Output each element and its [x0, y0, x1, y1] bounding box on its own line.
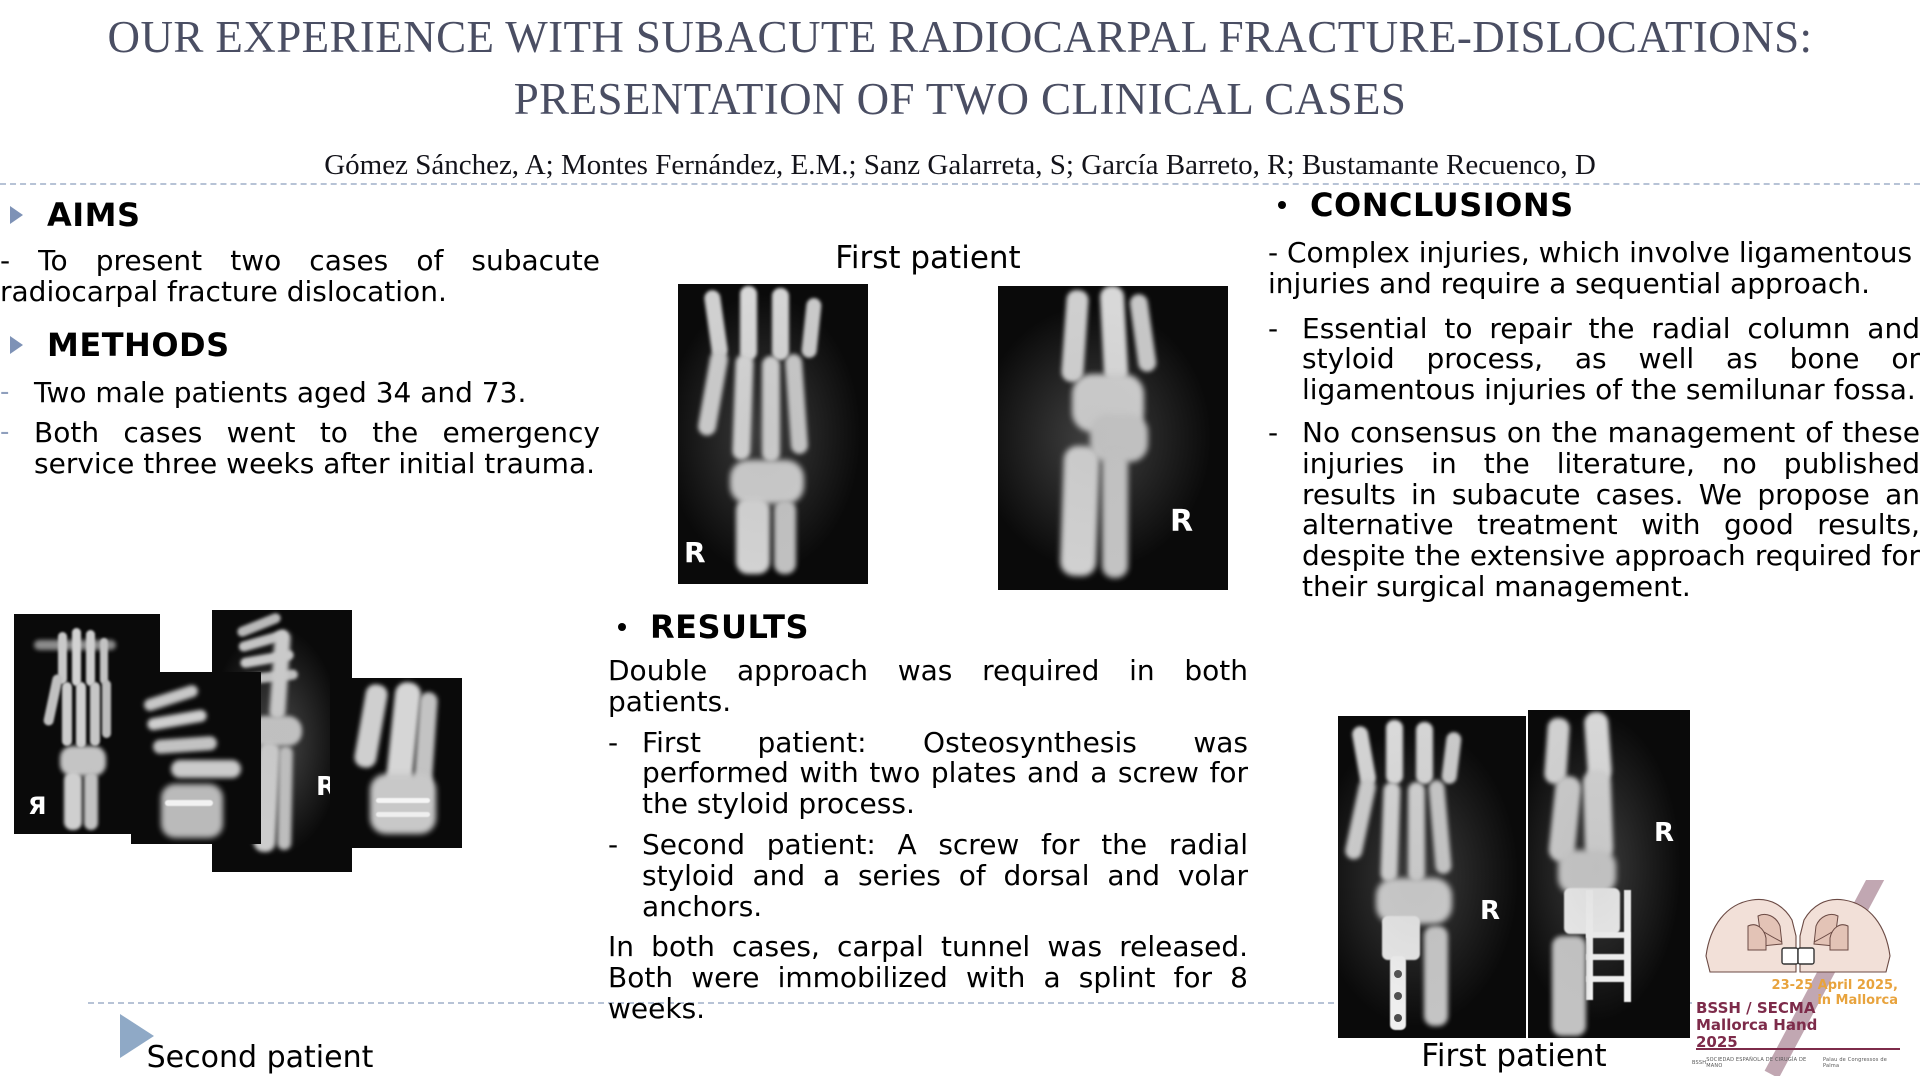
header-divider: [0, 183, 1920, 185]
sponsor-palau: Palau de Congressos de Palma: [1823, 1057, 1904, 1069]
conclusions-heading-row: CONCLUSIONS: [1268, 186, 1920, 224]
results-bullet: - Second patient: A screw for the radial…: [608, 830, 1248, 922]
bullet-mark: -: [608, 830, 642, 922]
results-heading: RESULTS: [650, 608, 809, 646]
conclusions-bullet: - Essential to repair the radial column …: [1268, 314, 1920, 406]
xray-first-patient-preop-pa: R: [678, 284, 868, 584]
bullet-mark: -: [0, 378, 34, 409]
author-list: Gómez Sánchez, A; Montes Fernández, E.M.…: [0, 148, 1920, 182]
hands-illustration-icon: [1700, 886, 1896, 982]
disc-bullet-icon: [618, 623, 626, 631]
conclusions-bullet: - No consensus on the management of thes…: [1268, 418, 1920, 603]
aims-heading: AIMS: [47, 196, 141, 234]
logo-divider: [1696, 1048, 1900, 1050]
disc-bullet-icon: [1278, 201, 1286, 209]
page-title: OUR EXPERIENCE WITH SUBACUTE RADIOCARPAL…: [0, 6, 1920, 130]
xray-laterality-label: R: [1654, 818, 1674, 848]
bullet-text: No consensus on the management of these …: [1302, 418, 1920, 603]
sponsor-bssh: BSSH: [1692, 1060, 1706, 1066]
logo-name-line1: BSSH / SECMA: [1696, 1000, 1826, 1017]
methods-heading: METHODS: [47, 326, 230, 364]
conference-logo: 23-25 April 2025, in Mallorca BSSH / SEC…: [1692, 880, 1904, 1076]
results-intro: Double approach was required in both pat…: [608, 656, 1248, 718]
conclusions-heading: CONCLUSIONS: [1310, 186, 1574, 224]
bullet-text: Second patient: A screw for the radial s…: [642, 830, 1248, 922]
logo-event-name: BSSH / SECMA Mallorca Hand 2025: [1696, 1000, 1826, 1051]
poster-slide: OUR EXPERIENCE WITH SUBACUTE RADIOCARPAL…: [0, 0, 1920, 1080]
xray-laterality-label: Я: [28, 792, 46, 820]
xray-first-patient-preop-lateral: R: [998, 286, 1228, 590]
xray-first-patient-postop-lateral: R: [1528, 710, 1690, 1038]
xray-laterality-label: R: [1170, 504, 1193, 539]
bullet-text: Two male patients aged 34 and 73.: [34, 378, 600, 409]
methods-bullet: - Two male patients aged 34 and 73.: [0, 378, 600, 409]
left-caption: Second patient: [120, 1040, 400, 1075]
column-middle: RESULTS Double approach was required in …: [608, 608, 1248, 1035]
xray-laterality-label: R: [684, 536, 706, 569]
column-right: CONCLUSIONS - Complex injuries, which in…: [1268, 186, 1920, 613]
sponsor-secma: SOCIEDAD ESPAÑOLA DE CIRUGÍA DE MANO: [1706, 1057, 1823, 1069]
aims-text: - To present two cases of subacute radio…: [0, 246, 600, 308]
xray-first-patient-postop-pa: R: [1338, 716, 1526, 1038]
logo-name-line2: Mallorca Hand: [1696, 1017, 1826, 1034]
right-caption: First patient: [1334, 1038, 1694, 1074]
bullet-text: First patient: Osteosynthesis was perfor…: [642, 728, 1248, 820]
aims-heading-row: AIMS: [0, 196, 600, 234]
column-left: AIMS - To present two cases of subacute …: [0, 196, 600, 490]
results-heading-row: RESULTS: [608, 608, 1248, 646]
triangle-bullet-icon: [10, 206, 23, 224]
bullet-text: Both cases went to the emergency service…: [34, 418, 600, 480]
bullet-mark: -: [1268, 314, 1302, 406]
xray-laterality-label: R: [1480, 896, 1500, 926]
results-outro: In both cases, carpal tunnel was release…: [608, 932, 1248, 1024]
logo-sponsors: BSSH SOCIEDAD ESPAÑOLA DE CIRUGÍA DE MAN…: [1692, 1052, 1904, 1074]
xray-second-patient-detail-1: [131, 672, 261, 844]
bullet-text: Essential to repair the radial column an…: [1302, 314, 1920, 406]
conclusions-intro: - Complex injuries, which involve ligame…: [1268, 238, 1920, 300]
bullet-mark: -: [608, 728, 642, 820]
triangle-bullet-icon: [10, 336, 23, 354]
xray-second-patient-detail-2: [330, 678, 462, 848]
bullet-mark: -: [1268, 418, 1302, 603]
results-bullet: - First patient: Osteosynthesis was perf…: [608, 728, 1248, 820]
bullet-mark: -: [0, 418, 34, 480]
methods-heading-row: METHODS: [0, 326, 600, 364]
methods-bullet: - Both cases went to the emergency servi…: [0, 418, 600, 480]
logo-date-line1: 23-25 April 2025,: [1748, 978, 1898, 993]
middle-caption-top: First patient: [608, 240, 1248, 276]
